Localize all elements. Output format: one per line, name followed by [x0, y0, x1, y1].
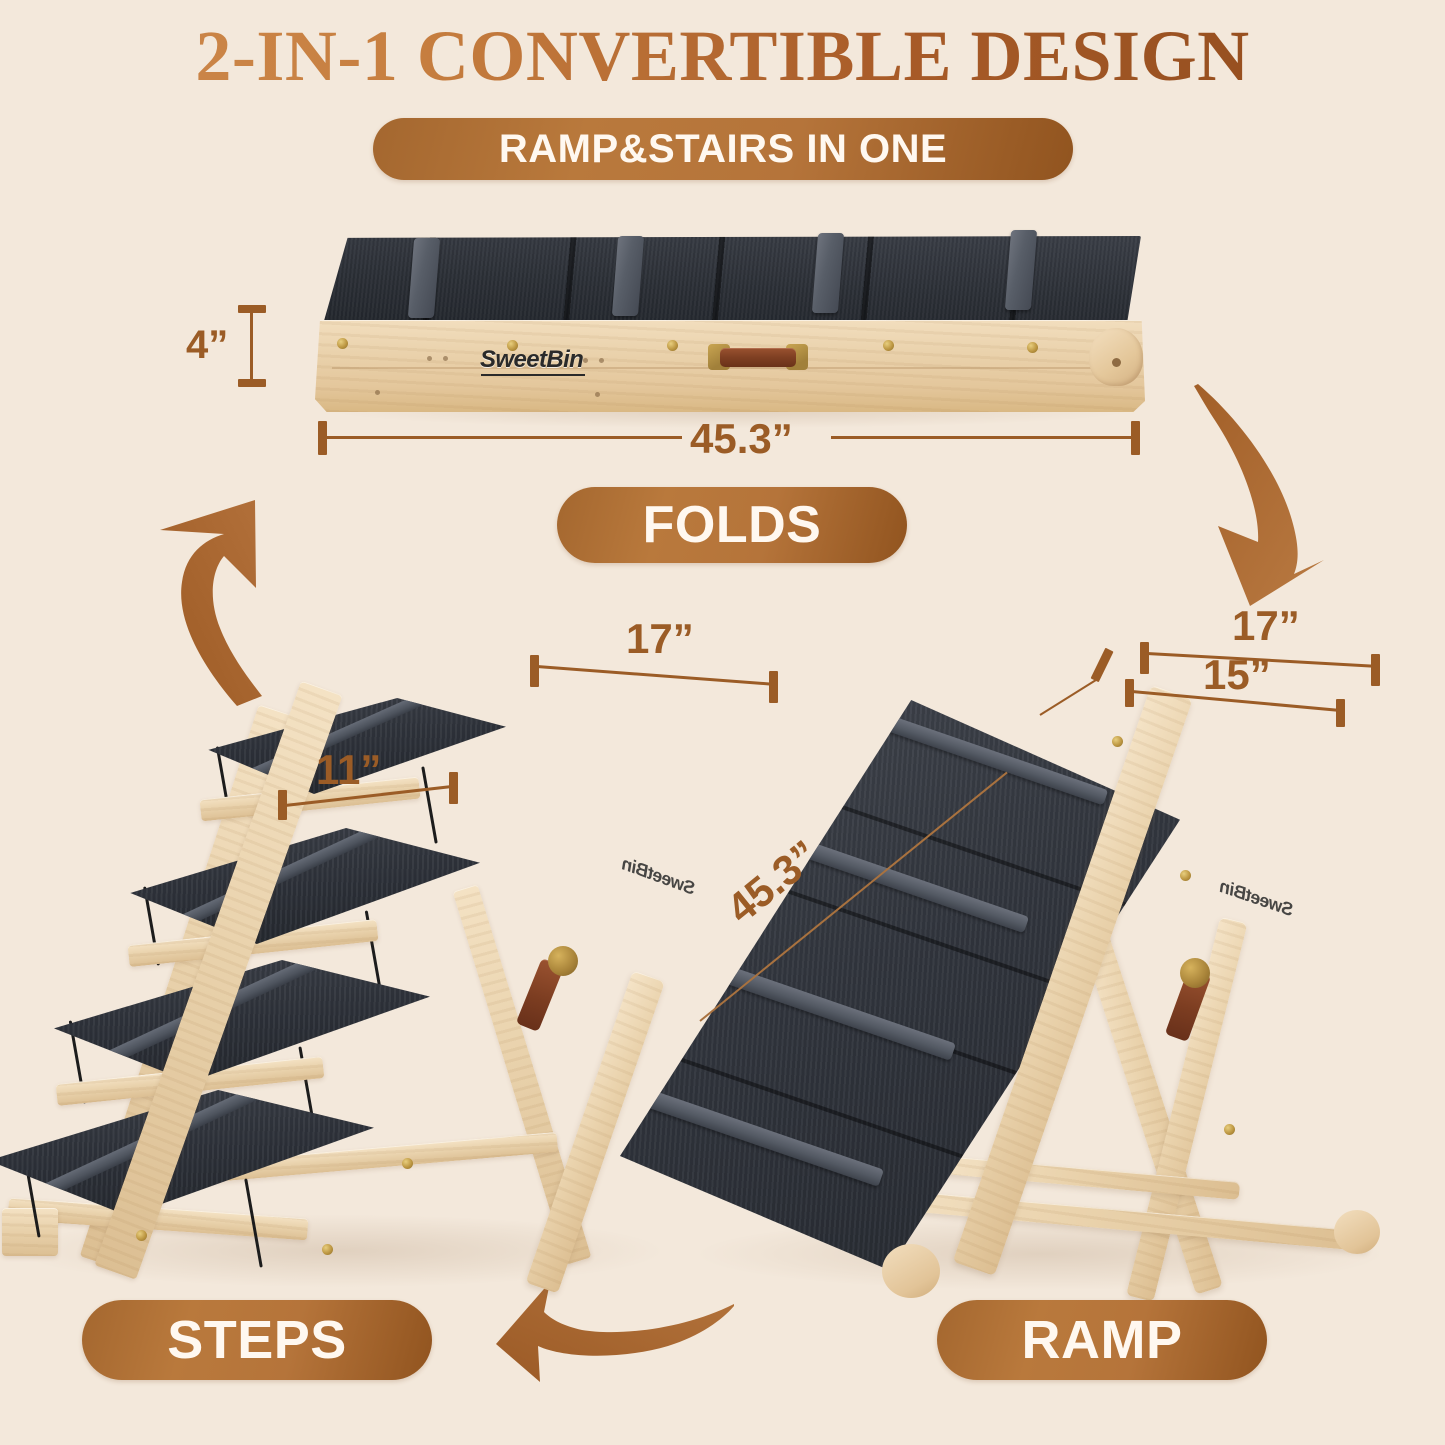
- product-photo-ramp: SweetBin: [620, 670, 1420, 1295]
- handle-strap: [720, 348, 796, 367]
- dimension-label-ramp-inner: 15”: [1203, 651, 1271, 699]
- badge-steps: STEPS: [82, 1300, 432, 1380]
- curved-arrow-up-left-icon: [140, 478, 330, 708]
- dimension-cap: [1131, 421, 1140, 455]
- screw-icon: [667, 340, 678, 351]
- tack-icon: [443, 356, 448, 361]
- step-tread: [108, 828, 480, 944]
- dimension-cap: [1140, 642, 1149, 674]
- subtitle-badge: RAMP&STAIRS IN ONE: [373, 118, 1073, 180]
- tack-icon: [595, 392, 600, 397]
- screw-icon: [136, 1230, 147, 1241]
- screw-icon: [883, 340, 894, 351]
- dimension-line: [831, 436, 1131, 439]
- wheel: [1089, 328, 1143, 386]
- dimension-ramp-inner-width: 15”: [1125, 679, 1345, 733]
- badge-folds: FOLDS: [557, 487, 907, 563]
- latch-pivot: [548, 946, 578, 976]
- screw-icon: [1027, 342, 1038, 353]
- screw-icon: [1224, 1124, 1235, 1135]
- brand-logo: SweetBin: [480, 346, 583, 374]
- dimension-line: [250, 307, 253, 385]
- base-crossbar-lower: [920, 1154, 1240, 1200]
- ramp-foot-rear: [1334, 1210, 1380, 1254]
- dimension-cap: [318, 421, 327, 455]
- screw-icon: [1180, 870, 1191, 881]
- ramp-latch-pivot: [1180, 958, 1210, 988]
- dimension-steps-depth: 11”: [278, 758, 458, 824]
- dimension-cap: [1371, 654, 1380, 686]
- screw-icon: [337, 338, 348, 349]
- tack-icon: [375, 390, 380, 395]
- dimension-cap: [1336, 699, 1345, 727]
- tack-icon: [583, 358, 588, 363]
- screw-icon: [402, 1158, 413, 1169]
- dimension-cap: [530, 655, 539, 687]
- curved-arrow-down-right-icon: [1158, 378, 1363, 608]
- dimension-label-length: 45.3”: [690, 415, 793, 463]
- base-foot-left: [2, 1208, 58, 1256]
- dimension-cap: [238, 379, 266, 387]
- ramp-foot: [882, 1244, 940, 1298]
- tack-icon: [599, 358, 604, 363]
- dimension-label-ramp-outer: 17”: [1232, 602, 1300, 650]
- ramp-side-brand-logo: SweetBin: [1217, 876, 1297, 921]
- screw-icon: [1112, 736, 1123, 747]
- page-title: 2-IN-1 CONVERTIBLE DESIGN: [0, 18, 1445, 96]
- dimension-folded-height: 4”: [186, 305, 276, 387]
- dimension-folded-length: 45.3”: [318, 413, 1140, 461]
- carry-handle: [708, 344, 808, 370]
- dimension-cap: [238, 305, 266, 313]
- screw-icon: [322, 1244, 333, 1255]
- tack-icon: [427, 356, 432, 361]
- dimension-label-height: 4”: [186, 323, 228, 368]
- infographic-canvas: 2-IN-1 CONVERTIBLE DESIGN RAMP&STAIRS IN…: [0, 0, 1445, 1445]
- badge-ramp: RAMP: [937, 1300, 1267, 1380]
- dimension-label-steps-width: 17”: [626, 615, 694, 663]
- dimension-line: [327, 436, 682, 439]
- product-photo-folded: SweetBin: [315, 236, 1145, 411]
- dimension-label-steps-depth: 11”: [316, 746, 381, 794]
